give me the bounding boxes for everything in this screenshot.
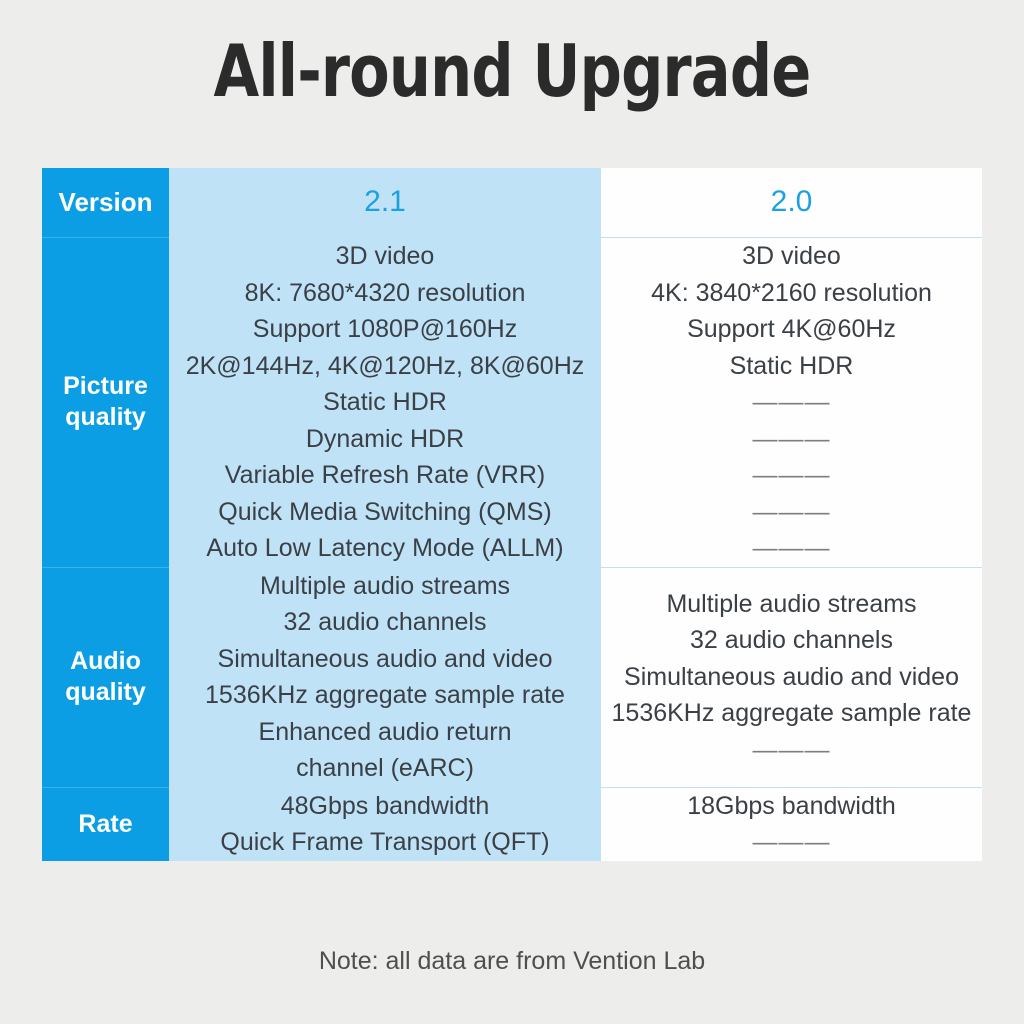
- spec-line: 18Gbps bandwidth: [601, 788, 982, 825]
- spec-placeholder-dash: ———: [601, 494, 982, 531]
- cell-picture-quality-20: 3D video 4K: 3840*2160 resolution Suppor…: [601, 238, 982, 568]
- spec-line: Quick Frame Transport (QFT): [169, 824, 601, 861]
- spec-line: Simultaneous audio and video: [169, 641, 601, 678]
- row-label-line: Rate: [42, 809, 169, 840]
- comparison-table: Version 2.1 2.0 Picture quality 3D video…: [42, 168, 982, 861]
- spec-line: Multiple audio streams: [169, 568, 601, 605]
- spec-line: 3D video: [601, 238, 982, 275]
- row-label-line: Audio: [42, 646, 169, 677]
- row-label-line: Picture: [42, 371, 169, 402]
- page-title: All-round Upgrade: [92, 28, 932, 114]
- row-label-rate: Rate: [42, 787, 169, 861]
- cell-audio-quality-21: Multiple audio streams 32 audio channels…: [169, 567, 601, 787]
- cell-rate-21: 48Gbps bandwidth Quick Frame Transport (…: [169, 787, 601, 861]
- spec-line: Dynamic HDR: [169, 421, 601, 458]
- header-cell-version-21: 2.1: [169, 168, 601, 238]
- row-label-picture-quality: Picture quality: [42, 238, 169, 568]
- table-row: Audio quality Multiple audio streams 32 …: [42, 567, 982, 787]
- spec-line: Quick Media Switching (QMS): [169, 494, 601, 531]
- cell-rate-20: 18Gbps bandwidth ———: [601, 787, 982, 861]
- spec-line: 1536KHz aggregate sample rate: [169, 677, 601, 714]
- spec-line: 32 audio channels: [169, 604, 601, 641]
- spec-placeholder-dash: ———: [601, 824, 982, 861]
- spec-line: Static HDR: [169, 384, 601, 421]
- spec-line: Variable Refresh Rate (VRR): [169, 457, 601, 494]
- spec-line: Multiple audio streams: [601, 586, 982, 623]
- cell-picture-quality-21: 3D video 8K: 7680*4320 resolution Suppor…: [169, 238, 601, 568]
- row-label-audio-quality: Audio quality: [42, 567, 169, 787]
- header-cell-version: Version: [42, 168, 169, 238]
- spec-line: Enhanced audio return: [169, 714, 601, 751]
- spec-line: Support 4K@60Hz: [601, 311, 982, 348]
- spec-placeholder-dash: ———: [601, 530, 982, 567]
- spec-line: 1536KHz aggregate sample rate: [601, 695, 982, 732]
- spec-line: Support 1080P@160Hz: [169, 311, 601, 348]
- row-label-line: quality: [42, 677, 169, 708]
- spec-placeholder-dash: ———: [601, 421, 982, 458]
- row-label-line: quality: [42, 402, 169, 433]
- spec-placeholder-dash: ———: [601, 732, 982, 769]
- cell-audio-quality-20: Multiple audio streams 32 audio channels…: [601, 567, 982, 787]
- spec-placeholder-dash: ———: [601, 384, 982, 421]
- table-row: Rate 48Gbps bandwidth Quick Frame Transp…: [42, 787, 982, 861]
- spec-line: channel (eARC): [169, 750, 601, 787]
- spec-line: 32 audio channels: [601, 622, 982, 659]
- spec-line: 48Gbps bandwidth: [169, 788, 601, 825]
- spec-line: Simultaneous audio and video: [601, 659, 982, 696]
- spec-line: 3D video: [169, 238, 601, 275]
- table-row: Picture quality 3D video 8K: 7680*4320 r…: [42, 238, 982, 568]
- spec-placeholder-dash: ———: [601, 457, 982, 494]
- spec-line: 2K@144Hz, 4K@120Hz, 8K@60Hz: [169, 348, 601, 385]
- header-cell-version-20: 2.0: [601, 168, 982, 238]
- spec-line: Auto Low Latency Mode (ALLM): [169, 530, 601, 567]
- spec-line: 8K: 7680*4320 resolution: [169, 275, 601, 312]
- table-header-row: Version 2.1 2.0: [42, 168, 982, 238]
- spec-line: 4K: 3840*2160 resolution: [601, 275, 982, 312]
- infographic-page: All-round Upgrade Version 2.1 2.0 Pictur…: [0, 0, 1024, 1024]
- footnote: Note: all data are from Vention Lab: [0, 947, 1024, 976]
- spec-line: Static HDR: [601, 348, 982, 385]
